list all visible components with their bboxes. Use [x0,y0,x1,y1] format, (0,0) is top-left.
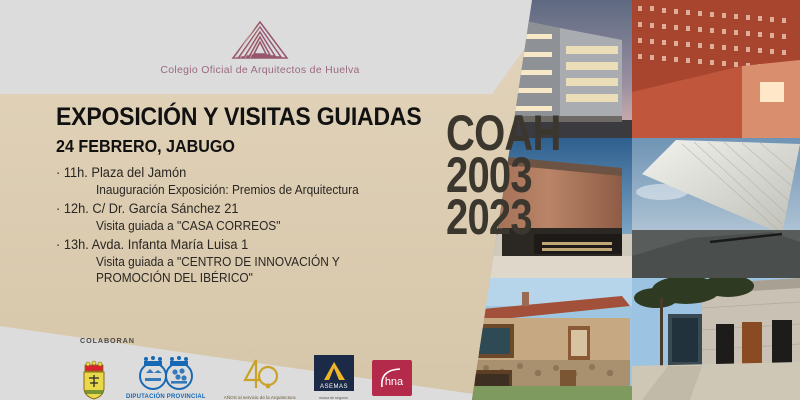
poster-root: Colegio Oficial de Arquitectos de Huelva… [0,0,800,400]
sponsor-logo-row: DIPUTACIÓN PROVINCIAL AÑOS al servicio d… [80,348,460,400]
schedule-detail: Visita guiada a "CENTRO DE INNOVACIÓN Y [96,254,438,270]
anniversary-years: COAH 2003 2023 [446,112,576,238]
photo-stone-rural-house [472,278,632,400]
page-title: EXPOSICIÓN Y VISITAS GUIADAS [56,104,424,130]
schedule-detail: Visita guiada a "CASA CORREOS" [96,218,438,234]
main-content: EXPOSICIÓN Y VISITAS GUIADAS 24 FEBRERO,… [56,104,456,289]
organization-name: Colegio Oficial de Arquitectos de Huelva [160,64,359,76]
diputacion-caption: DIPUTACIÓN PROVINCIAL [126,394,206,400]
list-item: · 13h. Avda. Infanta María Luisa 1 Visit… [56,237,456,286]
event-date-location: 24 FEBRERO, JABUGO [56,137,424,155]
list-item: · 12h. C/ Dr. García Sánchez 21 Visita g… [56,201,456,234]
asemas-caption: mutua de seguros [319,396,348,400]
asemas-logo: ASEMAS [314,355,354,395]
coah-triangle-a-logo [227,20,293,60]
footer-sponsors: COLABORAN [80,336,460,400]
schedule-time-place: · 12h. C/ Dr. García Sánchez 21 [56,201,436,218]
schedule-list: · 11h. Plaza del Jamón Inauguración Expo… [56,165,456,287]
photo-concrete-courtyard [632,278,800,400]
photo-red-perforated-facade [632,0,800,138]
sponsor-ayuntamiento-jabugo[interactable] [80,360,108,400]
diputacion-provincial-logo [131,353,201,393]
colaboran-label: COLABORAN [80,336,460,345]
schedule-time-place: · 13h. Avda. Infanta María Luisa 1 [56,237,436,254]
sponsor-diputacion-provincial[interactable]: DIPUTACIÓN PROVINCIAL [126,353,206,400]
asemas-wordmark: ASEMAS [320,384,348,390]
photo-white-angular-canopy [632,138,800,278]
anos-caption: AÑOS al servicio de la Arquitectura [224,395,296,400]
ayuntamiento-jabugo-crest [80,360,108,400]
hna-logo: hna [372,360,412,400]
schedule-detail: Inauguración Exposición: Premios de Arqu… [96,182,438,198]
list-item: · 11h. Plaza del Jamón Inauguración Expo… [56,165,456,198]
header: Colegio Oficial de Arquitectos de Huelva [0,0,520,96]
sponsor-hna[interactable]: hna [372,360,412,400]
schedule-detail-continued: PROMOCIÓN DEL IBÉRICO" [96,270,438,286]
hna-wordmark: hna [384,376,403,388]
anniversary-year-end: 2023 [446,196,550,238]
sponsor-asemas[interactable]: ASEMAS mutua de seguros [314,355,354,400]
40-anos-logo [242,356,278,394]
sponsor-40-anos[interactable]: AÑOS al servicio de la Arquitectura [224,356,296,400]
schedule-time-place: · 11h. Plaza del Jamón [56,165,436,182]
